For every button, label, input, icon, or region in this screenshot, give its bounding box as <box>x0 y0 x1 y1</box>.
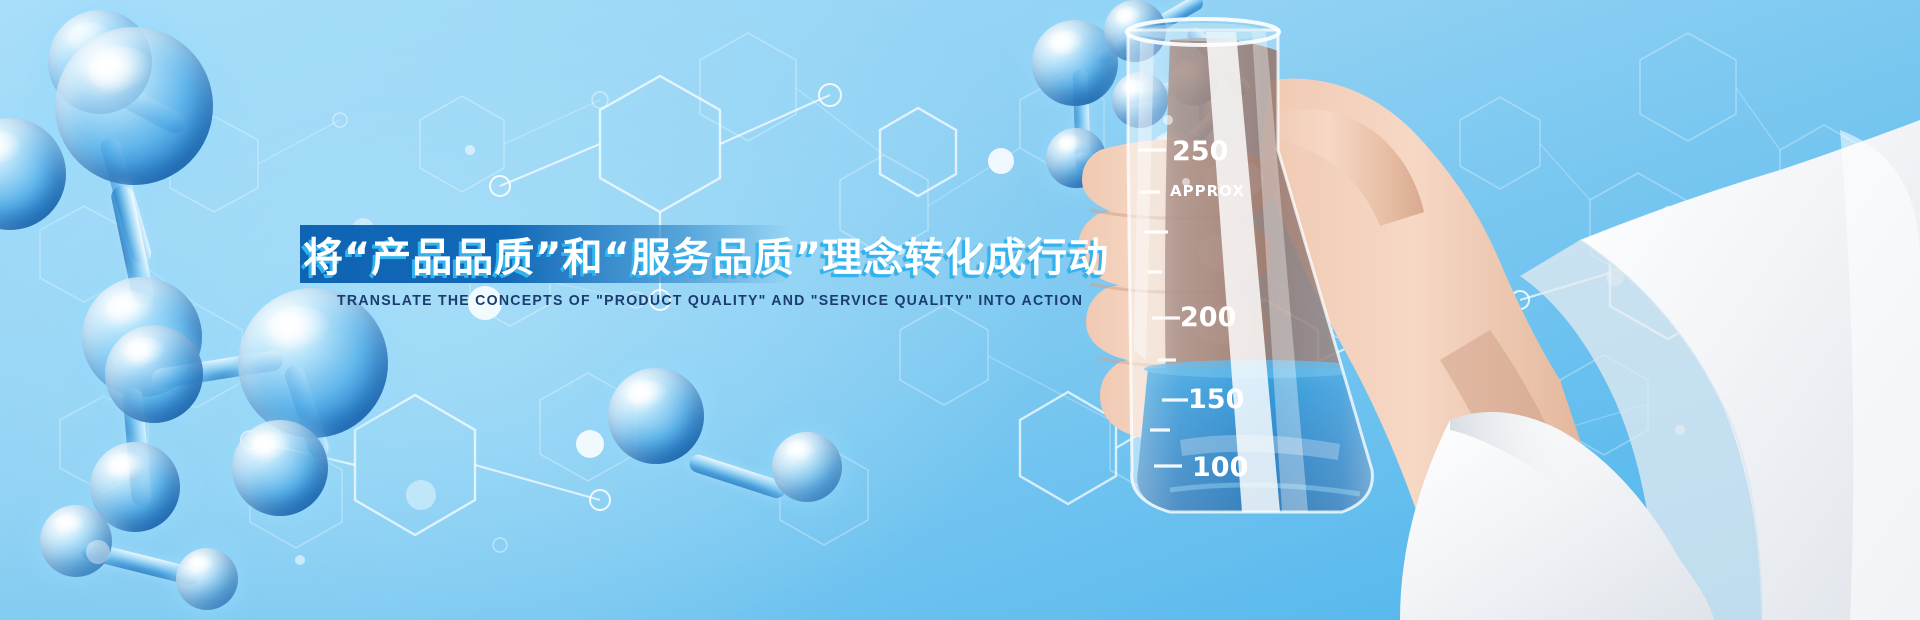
graduation-250: 250 <box>1172 136 1228 167</box>
graduation-100: 100 <box>1192 452 1248 483</box>
page-subtitle: TRANSLATE THE CONCEPTS OF "PRODUCT QUALI… <box>337 292 1083 309</box>
forearm <box>1260 79 1640 620</box>
graduation-150: 150 <box>1188 384 1244 415</box>
hand-holding-flask-photo: 250 APPROX 200 150 100 <box>1020 0 1920 620</box>
hand-fingers <box>1078 109 1424 443</box>
hexagon-lattice-back <box>0 0 1920 620</box>
palm-behind-glass <box>1165 38 1367 512</box>
lab-coat-sleeve <box>1400 412 1714 620</box>
bokeh-dot <box>1706 338 1732 364</box>
lab-coat-fold <box>1520 240 1762 620</box>
bokeh-dot <box>86 540 110 564</box>
flask-liquid <box>1137 368 1372 512</box>
page-title: 将“产品品质”和“服务品质”理念转化成行动 <box>303 225 1109 283</box>
hero-banner: 250 APPROX 200 150 100 将“产品品质”和“服务品质”理念转… <box>0 0 1920 620</box>
flask-outline <box>1128 30 1372 512</box>
bokeh-dot <box>1606 268 1624 286</box>
bokeh-dot <box>576 430 604 458</box>
bokeh-dot <box>406 480 436 510</box>
glass-glare <box>1206 32 1280 512</box>
lab-coat-body <box>1580 120 1920 620</box>
flask-graduations: 250 APPROX 200 150 100 <box>1138 136 1248 483</box>
hexagon-lattice-front <box>0 0 1920 620</box>
graduation-200: 200 <box>1180 302 1236 333</box>
bokeh-dot <box>1240 188 1254 202</box>
bokeh-dot <box>1278 108 1298 128</box>
graduation-approx: APPROX <box>1170 182 1245 200</box>
bokeh-dot <box>988 148 1014 174</box>
